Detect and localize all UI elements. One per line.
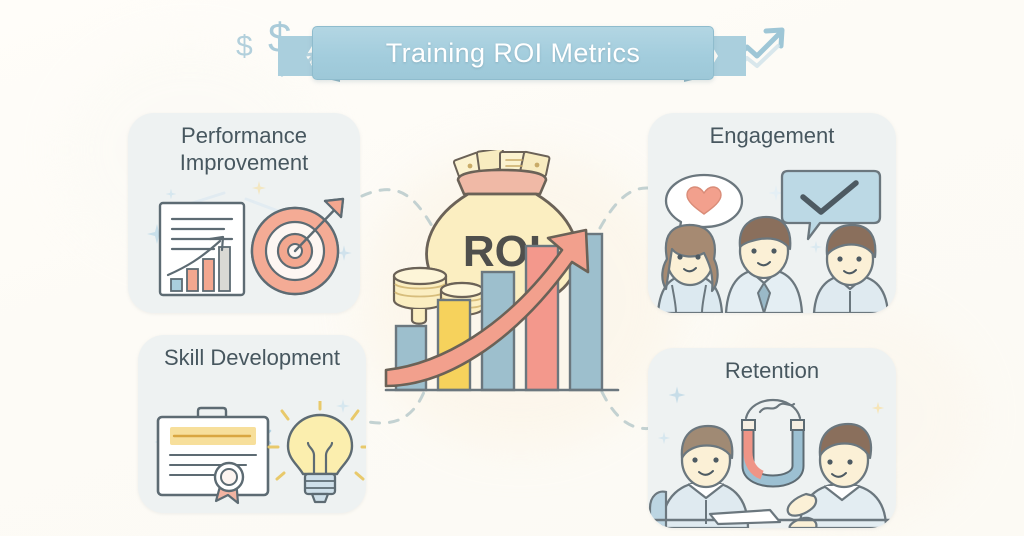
retention-art — [648, 390, 896, 528]
engagement-art — [648, 167, 896, 313]
lightbulb-icon — [269, 401, 366, 502]
title-banner: Training ROI Metrics — [312, 12, 712, 86]
card-title-engagement: Engagement — [648, 123, 896, 150]
card-engagement[interactable]: Engagement — [648, 113, 896, 313]
award-ribbon-icon — [215, 463, 243, 503]
card-title-retention: Retention — [648, 358, 896, 385]
roi-center-graphic: ROI — [382, 150, 642, 400]
card-skill-development[interactable]: Skill Development — [138, 335, 366, 513]
report-chart-icon — [160, 203, 244, 295]
skill-development-art — [138, 401, 366, 509]
certificate-icon — [158, 408, 268, 503]
roi-illustration: ROI — [382, 150, 642, 400]
infographic-canvas: $ $ Training ROI Metrics — [0, 0, 1024, 536]
page-title: Training ROI Metrics — [386, 38, 641, 69]
card-title-skill-development: Skill Development — [138, 345, 366, 372]
card-title-performance-improvement: Performance Improvement — [128, 123, 360, 177]
card-performance-improvement[interactable]: Performance Improvement — [128, 113, 360, 313]
ribbon-body: Training ROI Metrics — [312, 26, 714, 80]
people-group-icon — [658, 217, 888, 313]
magnet-icon — [742, 400, 804, 481]
performance-improvement-art — [128, 189, 360, 309]
card-retention[interactable]: Retention — [648, 348, 896, 528]
target-arrow-icon — [252, 199, 343, 294]
dollar-sign-icon: $ — [236, 30, 253, 64]
